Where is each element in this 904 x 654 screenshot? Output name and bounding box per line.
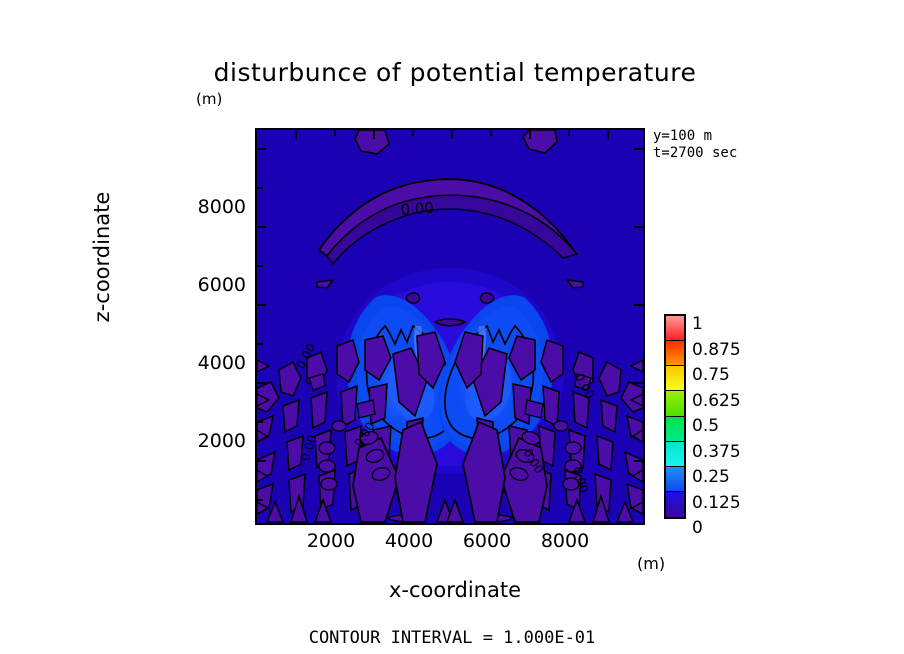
x-axis-title: x-coordinate [345, 578, 565, 602]
colorbar-label-1: 1 [692, 314, 703, 334]
colorbar-band-5 [666, 391, 684, 416]
y-axis-title: z-coordinate [90, 147, 114, 367]
annotation-time: t=2700 sec [653, 145, 737, 162]
colorbar-band-2 [666, 467, 684, 492]
contour-field: 0.00 [257, 130, 643, 523]
y-tick-label-4000: 4000 [176, 352, 246, 374]
x-tick-label-4000: 4000 [374, 530, 444, 552]
annotation-y-level: y=100 m [653, 128, 737, 145]
colorbar-label-05: 0.5 [692, 416, 719, 436]
figure-canvas: disturbunce of potential temperature (m)… [0, 0, 904, 654]
x-axis-unit-label: (m) [637, 554, 665, 573]
title-unit-label: (m) [196, 90, 222, 108]
svg-text:0.00: 0.00 [400, 199, 435, 219]
contour-label-arch: 0.00 [400, 199, 435, 219]
colorbar-label-0375: 0.375 [692, 442, 741, 462]
x-tick-label-2000: 2000 [296, 530, 366, 552]
x-tick-label-6000: 6000 [452, 530, 522, 552]
x-tick-label-8000: 8000 [530, 530, 600, 552]
page-title: disturbunce of potential temperature [170, 58, 740, 87]
colorbar-band-8 [666, 316, 684, 341]
colorbar-label-0: 0 [692, 518, 703, 538]
y-tick-label-6000: 6000 [176, 274, 246, 296]
central-lens [435, 319, 465, 326]
contour-interval-caption: CONTOUR INTERVAL = 1.000E-01 [0, 628, 904, 648]
colorbar-label-0875: 0.875 [692, 340, 741, 360]
colorbar-band-6 [666, 366, 684, 391]
colorbar-label-025: 0.25 [692, 467, 730, 487]
colorbar [664, 314, 686, 519]
y-tick-label-8000: 8000 [176, 196, 246, 218]
colorbar-band-4 [666, 417, 684, 442]
colorbar-label-0125: 0.125 [692, 493, 741, 513]
colorbar-band-3 [666, 442, 684, 467]
colorbar-band-1 [666, 492, 684, 517]
plot-annotations: y=100 m t=2700 sec [653, 128, 737, 162]
colorbar-band-7 [666, 341, 684, 366]
colorbar-label-0625: 0.625 [692, 391, 741, 411]
contour-plot-area: 0.00 [255, 128, 645, 525]
y-tick-label-2000: 2000 [176, 430, 246, 452]
colorbar-label-075: 0.75 [692, 365, 730, 385]
